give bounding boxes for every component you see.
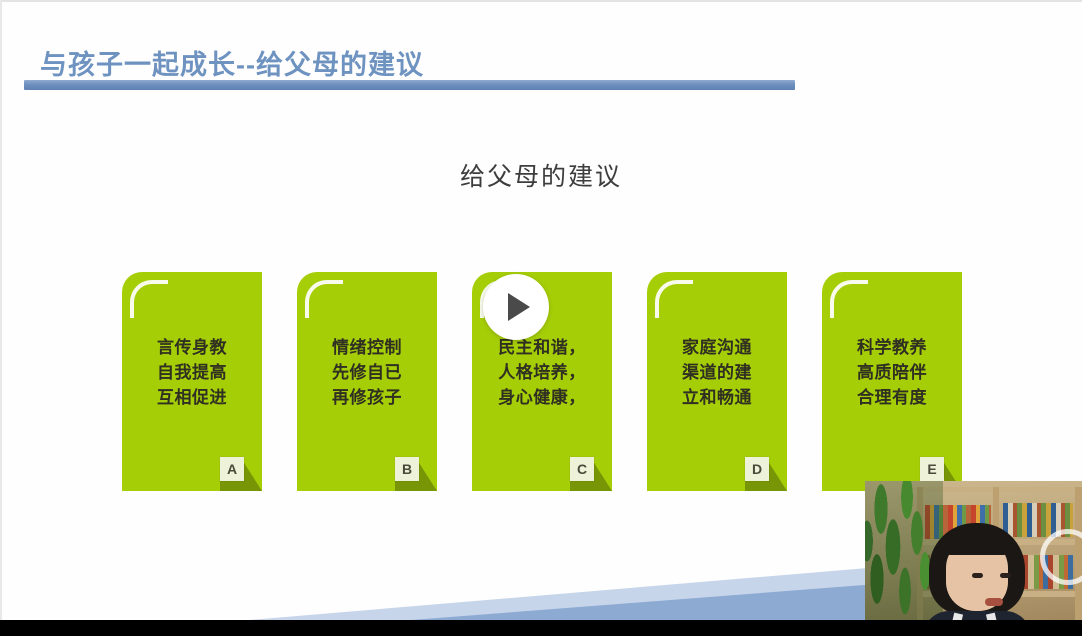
advice-line: 合理有度	[822, 385, 962, 410]
screen: 与孩子一起成长--给父母的建议 给父母的建议 言传身教 自我提高 互相促进 A …	[0, 0, 1082, 636]
presenter-webcam-video[interactable]	[865, 481, 1082, 620]
advice-card-b-text: 情绪控制 先修自已 再修孩子	[297, 335, 437, 410]
slide-subtitle: 给父母的建议	[0, 157, 1082, 193]
advice-card-b: 情绪控制 先修自已 再修孩子 B	[297, 272, 437, 491]
slide-canvas: 与孩子一起成长--给父母的建议 给父母的建议 言传身教 自我提高 互相促进 A …	[0, 0, 1082, 620]
advice-line: 再修孩子	[297, 385, 437, 410]
advice-line: 家庭沟通	[647, 335, 787, 360]
person-collar-right	[986, 613, 1005, 620]
advice-line: 身心健康，	[472, 385, 612, 410]
person-eye-left	[972, 573, 983, 578]
advice-line: 高质陪伴	[822, 360, 962, 385]
person-fringe	[941, 529, 1013, 555]
play-icon[interactable]	[483, 274, 549, 340]
advice-line: 先修自已	[297, 360, 437, 385]
advice-card-d-text: 家庭沟通 渠道的建 立和畅通	[647, 335, 787, 410]
advice-line: 立和畅通	[647, 385, 787, 410]
advice-line: 民主和谐，	[472, 335, 612, 360]
advice-card-a-badge: A	[220, 457, 244, 481]
advice-line: 言传身教	[122, 335, 262, 360]
play-triangle-glyph	[508, 293, 530, 321]
advice-card-e: 科学教养 高质陪伴 合理有度 E	[822, 272, 962, 491]
advice-card-b-badge: B	[395, 457, 419, 481]
advice-card-c-badge: C	[570, 457, 594, 481]
person-torso	[923, 611, 1031, 620]
presenter-person	[929, 523, 1025, 620]
advice-card-a-text: 言传身教 自我提高 互相促进	[122, 335, 262, 410]
advice-line: 互相促进	[122, 385, 262, 410]
advice-line: 自我提高	[122, 360, 262, 385]
corner-arc-icon	[305, 280, 343, 318]
page-title: 与孩子一起成长--给父母的建议	[40, 43, 424, 82]
advice-line: 渠道的建	[647, 360, 787, 385]
advice-card-e-badge: E	[920, 457, 944, 481]
title-underline-rule	[24, 80, 795, 90]
advice-card-c-text: 民主和谐， 人格培养， 身心健康，	[472, 335, 612, 410]
person-collar-left	[944, 613, 963, 620]
advice-card-d-badge: D	[745, 457, 769, 481]
corner-arc-icon	[830, 280, 868, 318]
advice-card-e-text: 科学教养 高质陪伴 合理有度	[822, 335, 962, 410]
person-eye-right	[1000, 573, 1011, 578]
slide-top-border	[0, 0, 1082, 2]
corner-arc-icon	[655, 280, 693, 318]
bottom-letterbox-bar	[0, 620, 1082, 636]
advice-line: 科学教养	[822, 335, 962, 360]
person-mouth	[985, 598, 1003, 606]
advice-card-d: 家庭沟通 渠道的建 立和畅通 D	[647, 272, 787, 491]
advice-card-a: 言传身教 自我提高 互相促进 A	[122, 272, 262, 491]
corner-arc-icon	[130, 280, 168, 318]
advice-line: 情绪控制	[297, 335, 437, 360]
slide-left-border	[0, 0, 2, 620]
advice-line: 人格培养，	[472, 360, 612, 385]
